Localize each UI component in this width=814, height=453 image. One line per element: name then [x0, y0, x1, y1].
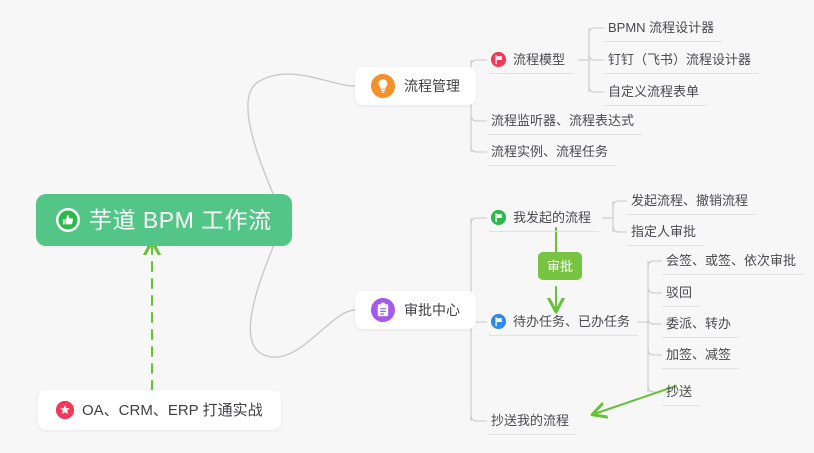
- node-process-listener-expression[interactable]: 流程监听器、流程表达式: [487, 107, 642, 135]
- branch-node-process-management[interactable]: 流程管理: [355, 67, 476, 105]
- node-label-reject: 驳回: [666, 286, 692, 299]
- node-start-cancel-process[interactable]: 发起流程、撤销流程: [627, 187, 756, 215]
- node-label-assignee-approval: 指定人审批: [631, 225, 696, 238]
- lightbulb-icon: [371, 74, 395, 98]
- branch-node-approval-center[interactable]: 审批中心: [355, 291, 476, 329]
- tag-label-approval: 审批: [547, 260, 573, 273]
- node-assignee-approval[interactable]: 指定人审批: [627, 218, 704, 246]
- node-process-model[interactable]: 流程模型: [489, 46, 573, 74]
- node-reject[interactable]: 驳回: [662, 279, 700, 307]
- node-my-initiated-process[interactable]: 我发起的流程: [489, 204, 599, 232]
- branch-label-approval-center: 审批中心: [404, 303, 460, 317]
- node-cc[interactable]: 抄送: [662, 378, 700, 406]
- node-bpmn-designer[interactable]: BPMN 流程设计器: [604, 14, 722, 42]
- node-label-process-model: 流程模型: [513, 53, 565, 66]
- node-label-process-instance-task: 流程实例、流程任务: [491, 145, 608, 158]
- tag-node-approval[interactable]: 审批: [538, 252, 582, 280]
- node-add-remove-sign[interactable]: 加签、减签: [662, 341, 739, 369]
- node-label-dingtalk-feishu-designer: 钉钉（飞书）流程设计器: [608, 53, 751, 66]
- flag-red-icon: [491, 52, 506, 67]
- node-process-instance-task[interactable]: 流程实例、流程任务: [487, 138, 616, 166]
- root-node[interactable]: 芋道 BPM 工作流: [36, 194, 292, 246]
- flag-blue-icon: [491, 314, 506, 329]
- node-label-countersign: 会签、或签、依次审批: [666, 254, 796, 267]
- branch-label-process-management: 流程管理: [404, 79, 460, 93]
- node-label-todo-done-task: 待办任务、已办任务: [513, 315, 630, 328]
- node-todo-done-task[interactable]: 待办任务、已办任务: [489, 308, 638, 336]
- my-initiated-connectors: [602, 201, 627, 232]
- node-label-delegate-transfer: 委派、转办: [666, 317, 731, 330]
- node-label-cc-to-me-process: 抄送我的流程: [491, 414, 569, 427]
- clipboard-icon: [371, 298, 395, 322]
- process-model-connectors: [578, 28, 604, 92]
- node-dingtalk-feishu-designer[interactable]: 钉钉（飞书）流程设计器: [604, 46, 759, 74]
- root-label: 芋道 BPM 工作流: [89, 209, 272, 232]
- node-label-cc: 抄送: [666, 385, 692, 398]
- todo-task-connectors: [637, 261, 662, 392]
- node-label-start-cancel-process: 发起流程、撤销流程: [631, 194, 748, 207]
- callout-node-oa-crm-erp[interactable]: OA、CRM、ERP 打通实战: [38, 390, 281, 430]
- thumbs-up-icon: [56, 208, 80, 232]
- mindmap-canvas: 芋道 BPM 工作流 OA、CRM、ERP 打通实战 流程管理: [0, 0, 814, 453]
- node-label-process-listener-expression: 流程监听器、流程表达式: [491, 114, 634, 127]
- node-label-my-initiated-process: 我发起的流程: [513, 211, 591, 224]
- node-label-bpmn-designer: BPMN 流程设计器: [608, 21, 714, 34]
- flag-green-icon: [491, 210, 506, 225]
- node-cc-to-me-process[interactable]: 抄送我的流程: [487, 407, 577, 435]
- star-icon: [56, 401, 74, 419]
- node-countersign[interactable]: 会签、或签、依次审批: [662, 247, 804, 275]
- node-custom-process-form[interactable]: 自定义流程表单: [604, 78, 707, 106]
- node-delegate-transfer[interactable]: 委派、转办: [662, 310, 739, 338]
- node-label-custom-process-form: 自定义流程表单: [608, 85, 699, 98]
- node-label-add-remove-sign: 加签、减签: [666, 348, 731, 361]
- callout-label: OA、CRM、ERP 打通实战: [82, 403, 263, 418]
